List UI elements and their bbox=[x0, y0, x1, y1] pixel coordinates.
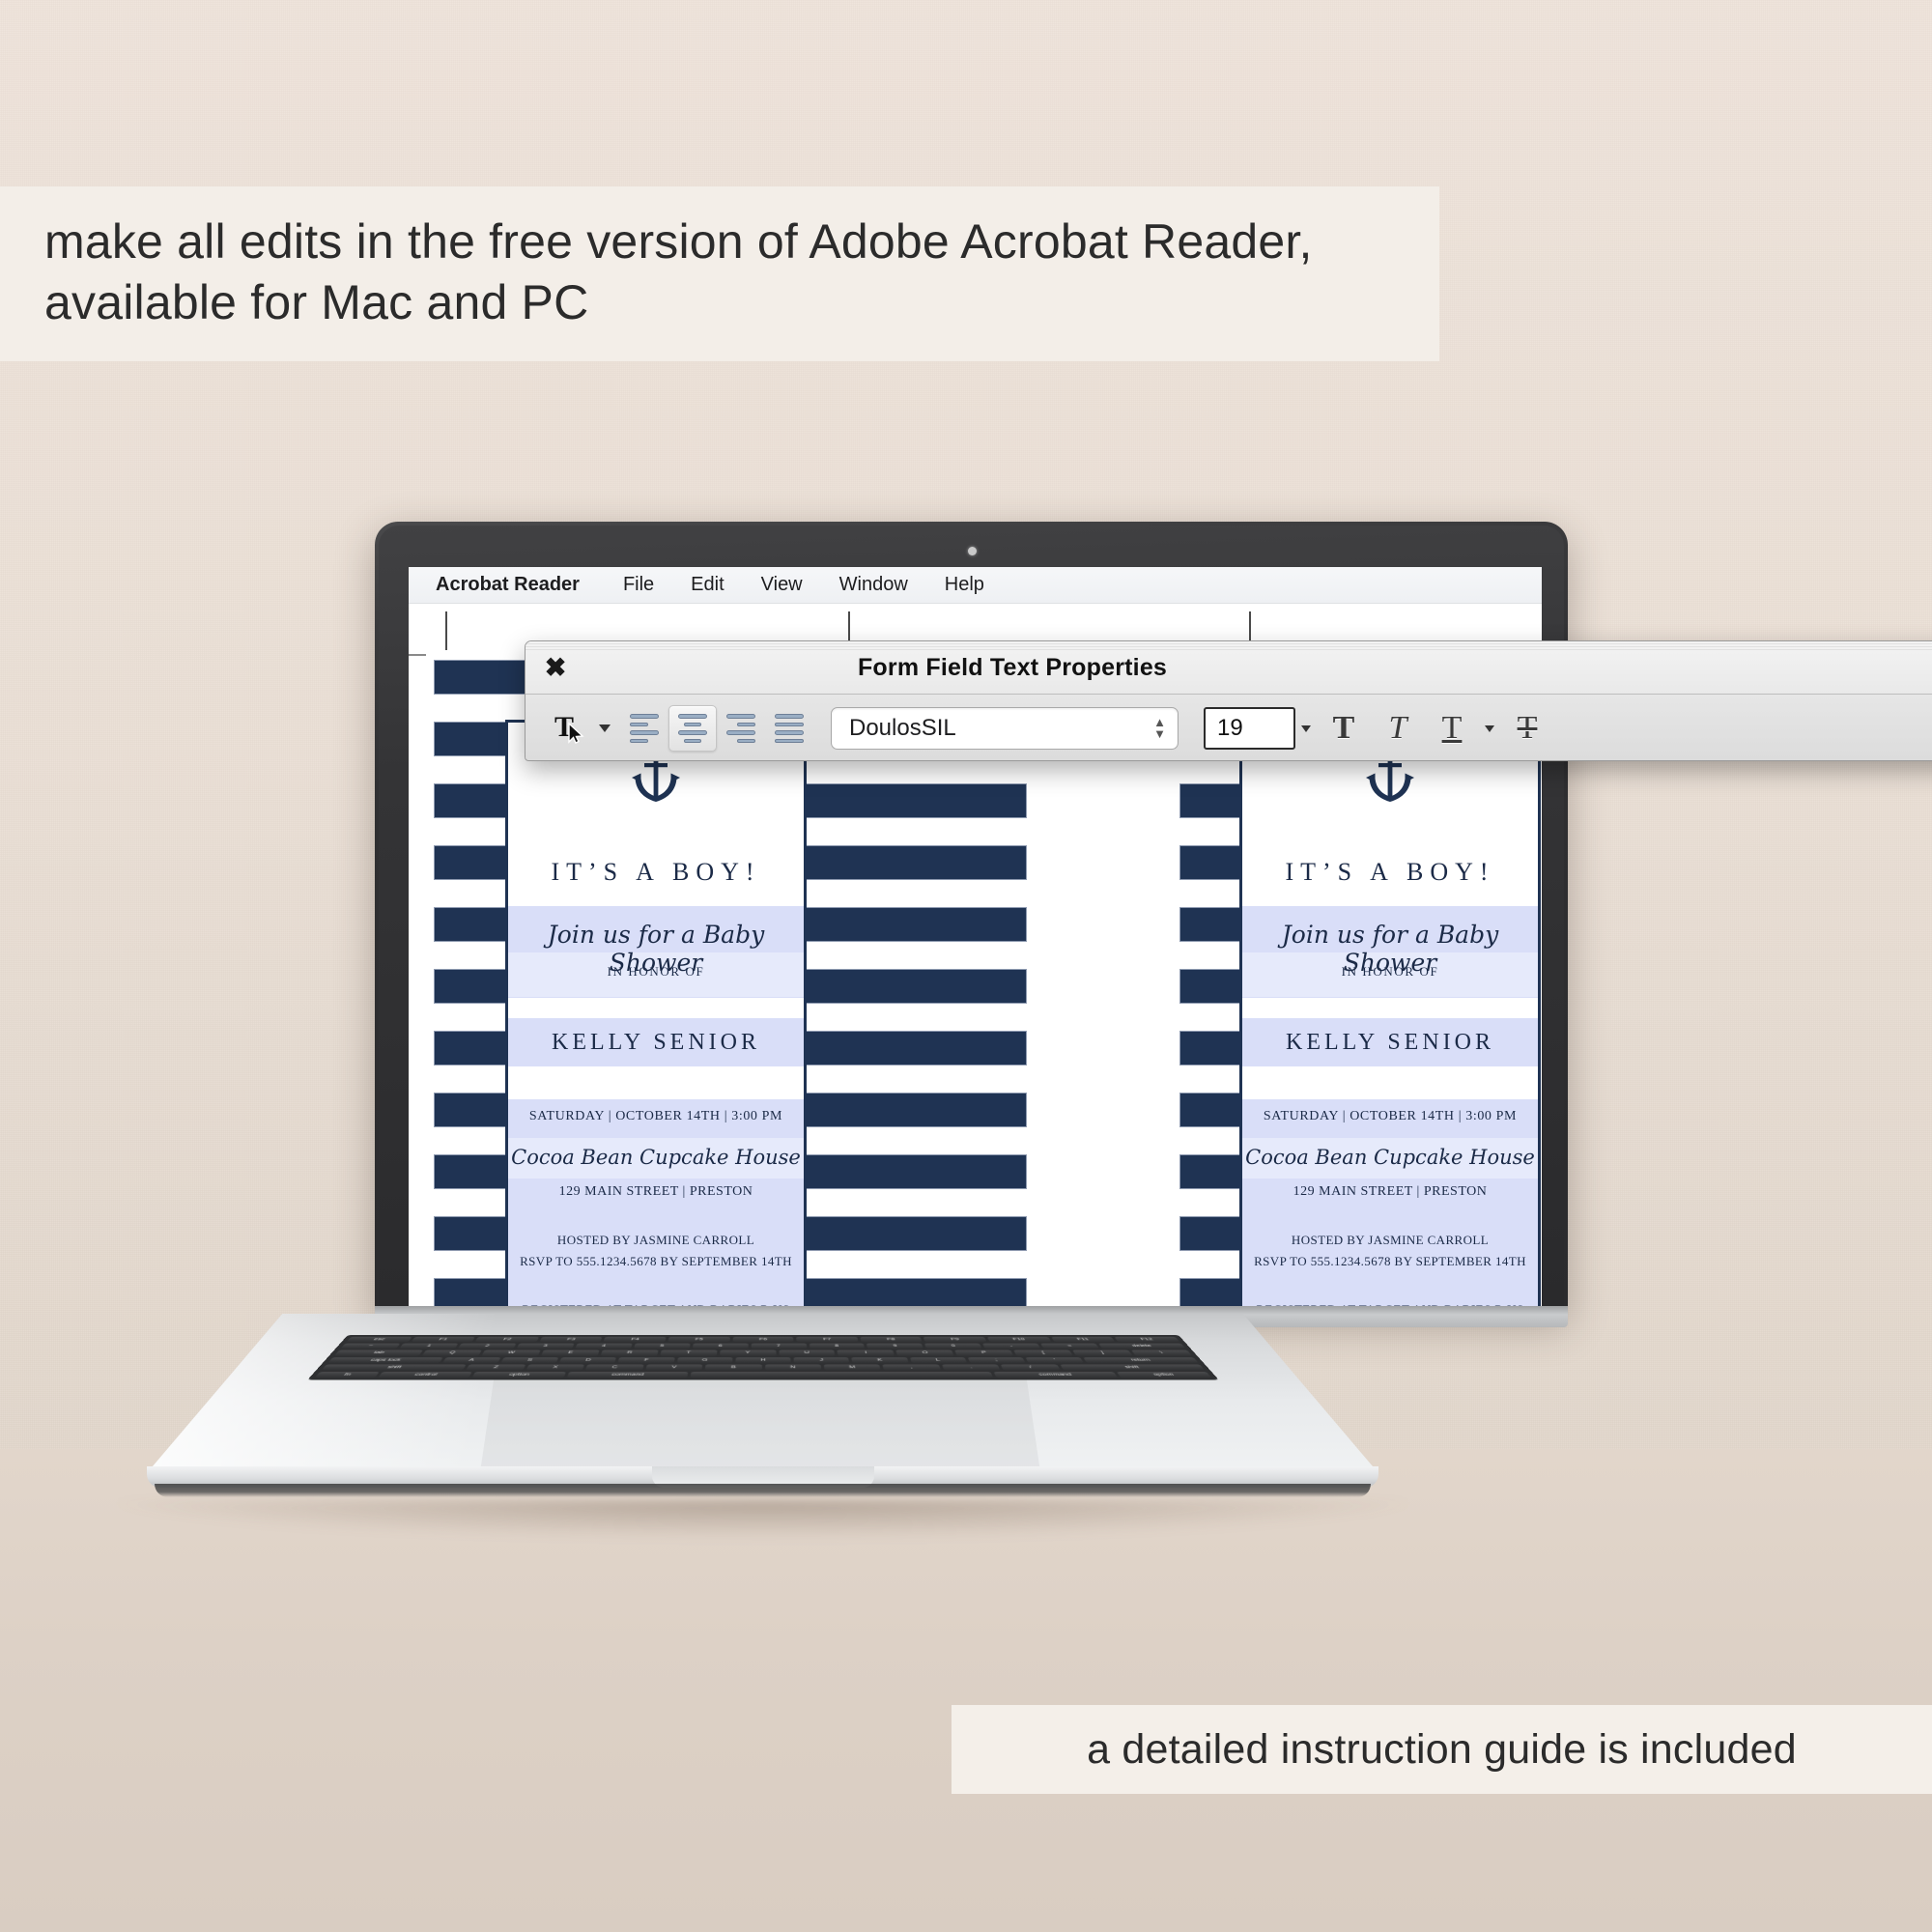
key[interactable]: X bbox=[526, 1364, 584, 1370]
key[interactable]: ; bbox=[968, 1357, 1026, 1363]
invitation-card-left[interactable]: IT’S A BOY! Join us for a Baby Shower IN… bbox=[505, 720, 807, 1311]
key[interactable]: F7 bbox=[796, 1337, 858, 1342]
bottom-caption: a detailed instruction guide is included bbox=[952, 1705, 1932, 1794]
key-shift-left[interactable]: shift bbox=[322, 1364, 467, 1370]
card-band-3 bbox=[1242, 1099, 1538, 1311]
key[interactable]: F5 bbox=[668, 1337, 730, 1342]
key-space[interactable] bbox=[691, 1372, 993, 1378]
card-honoree: KELLY SENIOR bbox=[508, 1030, 804, 1056]
text-properties-icon[interactable]: T bbox=[547, 705, 595, 752]
key-control[interactable]: control bbox=[379, 1372, 473, 1378]
stripe bbox=[781, 1031, 1027, 1065]
keyboard-row-qwerty[interactable]: tab Q W E R T Y U I O P [ ] \ bbox=[334, 1350, 1192, 1356]
key[interactable]: = bbox=[1040, 1344, 1099, 1349]
card-venue: Cocoa Bean Cupcake House bbox=[1242, 1146, 1538, 1169]
key[interactable]: Y bbox=[720, 1350, 776, 1356]
key[interactable]: U bbox=[779, 1350, 836, 1356]
key[interactable]: 8 bbox=[809, 1344, 865, 1349]
key[interactable]: F6 bbox=[732, 1337, 794, 1342]
key[interactable]: 4 bbox=[575, 1344, 632, 1349]
bold-button[interactable]: T bbox=[1317, 705, 1371, 752]
stripe bbox=[781, 1216, 1027, 1251]
card-rsvp: RSVP TO 555.1234.5678 BY SEPTEMBER 14TH bbox=[1242, 1254, 1538, 1269]
key[interactable]: \ bbox=[1131, 1350, 1192, 1356]
align-justify-button[interactable] bbox=[765, 705, 813, 752]
key[interactable]: 2 bbox=[458, 1344, 516, 1349]
laptop-mockup: Acrobat Reader File Edit View Window Hel… bbox=[0, 0, 1932, 1932]
strikethrough-button[interactable]: T bbox=[1500, 705, 1554, 752]
key[interactable]: E bbox=[541, 1350, 599, 1356]
font-size-chevron-down-icon[interactable] bbox=[1301, 725, 1311, 732]
font-family-select[interactable]: DoulosSIL ▲▼ bbox=[831, 707, 1179, 750]
keyboard-row-function[interactable]: esc F1 F2 F3 F4 F5 F6 F7 F8 F9 F10 F11 F… bbox=[347, 1337, 1180, 1342]
key-shift-right[interactable]: shift bbox=[1060, 1364, 1205, 1370]
key[interactable]: - bbox=[982, 1344, 1040, 1349]
align-center-icon bbox=[678, 714, 707, 743]
key[interactable]: K bbox=[852, 1357, 909, 1363]
key[interactable]: 3 bbox=[516, 1344, 574, 1349]
underline-button[interactable]: T bbox=[1425, 705, 1479, 752]
key[interactable]: ' bbox=[1026, 1357, 1085, 1363]
key-return[interactable]: return bbox=[1084, 1357, 1199, 1363]
stripe bbox=[781, 845, 1027, 880]
key[interactable]: 5 bbox=[634, 1344, 690, 1349]
stripe bbox=[781, 907, 1027, 942]
card-headline: IT’S A BOY! bbox=[1242, 858, 1538, 887]
invitation-card-right[interactable]: IT’S A BOY! Join us for a Baby Shower IN… bbox=[1239, 720, 1541, 1311]
form-field-text-properties-toolbar[interactable]: ✖ Form Field Text Properties T DoulosSIL bbox=[525, 640, 1932, 761]
keyboard-row-number[interactable]: ~ 1 2 3 4 5 6 7 8 9 0 - = delete bbox=[340, 1344, 1185, 1349]
key[interactable]: F4 bbox=[604, 1337, 667, 1342]
key[interactable]: F1 bbox=[411, 1337, 475, 1342]
key[interactable]: F bbox=[618, 1357, 675, 1363]
key[interactable]: F2 bbox=[475, 1337, 539, 1342]
key[interactable]: C bbox=[585, 1364, 643, 1370]
chevron-down-icon[interactable] bbox=[599, 724, 611, 732]
card-in-honor-of: IN HONOR OF bbox=[1242, 964, 1538, 980]
toolbar-drag-grip[interactable] bbox=[526, 643, 1932, 652]
font-size-input[interactable]: 19 bbox=[1204, 707, 1295, 750]
card-host: HOSTED BY JASMINE CARROLL bbox=[1242, 1233, 1538, 1248]
key[interactable]: F11 bbox=[1051, 1337, 1116, 1342]
key[interactable]: M bbox=[824, 1364, 881, 1370]
keyboard-row-home[interactable]: caps lock A S D F G H J K L ; ' return bbox=[328, 1357, 1199, 1363]
menu-item-file[interactable]: File bbox=[605, 574, 672, 596]
card-when: SATURDAY | OCTOBER 14TH | 3:00 PM bbox=[508, 1109, 804, 1124]
toolbar-title: Form Field Text Properties bbox=[526, 654, 1932, 682]
card-headline: IT’S A BOY! bbox=[508, 858, 804, 887]
card-address: 129 MAIN STREET | PRESTON bbox=[508, 1184, 804, 1200]
key[interactable]: L bbox=[910, 1357, 967, 1363]
menu-item-help[interactable]: Help bbox=[926, 574, 1003, 596]
font-size-value: 19 bbox=[1217, 715, 1243, 742]
key[interactable]: [ bbox=[1013, 1350, 1072, 1356]
key[interactable]: F12 bbox=[1115, 1337, 1180, 1342]
keyboard-row-shift[interactable]: shift Z X C V B N M , . / shift bbox=[322, 1364, 1205, 1370]
key[interactable]: , bbox=[883, 1364, 941, 1370]
key[interactable]: F10 bbox=[987, 1337, 1051, 1342]
card-when: SATURDAY | OCTOBER 14TH | 3:00 PM bbox=[1242, 1109, 1538, 1124]
key[interactable]: I bbox=[838, 1350, 895, 1356]
key[interactable]: F8 bbox=[860, 1337, 923, 1342]
card-rsvp: RSVP TO 555.1234.5678 BY SEPTEMBER 14TH bbox=[508, 1254, 804, 1269]
key-caps-lock[interactable]: caps lock bbox=[328, 1357, 443, 1363]
key[interactable]: Q bbox=[422, 1350, 482, 1356]
stripe bbox=[781, 1093, 1027, 1127]
align-center-button[interactable] bbox=[668, 705, 717, 752]
keyboard[interactable]: esc F1 F2 F3 F4 F5 F6 F7 F8 F9 F10 F11 F… bbox=[307, 1335, 1218, 1379]
key[interactable]: P bbox=[955, 1350, 1014, 1356]
key[interactable]: S bbox=[500, 1357, 558, 1363]
card-honoree: KELLY SENIOR bbox=[1242, 1030, 1538, 1056]
stripe bbox=[781, 1154, 1027, 1189]
key[interactable]: W bbox=[481, 1350, 540, 1356]
card-band-3 bbox=[508, 1099, 804, 1311]
key[interactable]: F3 bbox=[539, 1337, 602, 1342]
font-family-value: DoulosSIL bbox=[849, 715, 956, 742]
laptop-base-underside bbox=[155, 1484, 1371, 1497]
key[interactable]: 1 bbox=[399, 1344, 458, 1349]
key[interactable]: R bbox=[601, 1350, 659, 1356]
menu-item-view[interactable]: View bbox=[743, 574, 821, 596]
stepper-icon[interactable]: ▲▼ bbox=[1153, 718, 1166, 740]
align-justify-icon bbox=[775, 714, 804, 743]
key[interactable]: Z bbox=[466, 1364, 526, 1370]
key[interactable]: O bbox=[896, 1350, 954, 1356]
key[interactable]: J bbox=[794, 1357, 850, 1363]
key[interactable]: F9 bbox=[923, 1337, 986, 1342]
webcam-icon bbox=[968, 547, 977, 555]
stripe bbox=[781, 969, 1027, 1004]
underline-chevron-down-icon[interactable] bbox=[1485, 725, 1494, 732]
toolbar-controls[interactable]: T DoulosSIL ▲▼ 19 T bbox=[526, 695, 1932, 761]
key-tab[interactable]: tab bbox=[334, 1350, 423, 1356]
key[interactable]: ~ bbox=[340, 1344, 400, 1349]
key[interactable]: ] bbox=[1072, 1350, 1132, 1356]
toolbar-title-bar[interactable]: ✖ Form Field Text Properties bbox=[526, 641, 1932, 695]
key[interactable]: . bbox=[942, 1364, 1001, 1370]
key[interactable]: A bbox=[442, 1357, 501, 1363]
key[interactable]: 9 bbox=[867, 1344, 923, 1349]
card-host: HOSTED BY JASMINE CARROLL bbox=[508, 1233, 804, 1248]
card-in-honor-of: IN HONOR OF bbox=[508, 964, 804, 980]
key[interactable]: T bbox=[660, 1350, 717, 1356]
stripe bbox=[781, 783, 1027, 818]
key-command-right[interactable]: command bbox=[994, 1372, 1118, 1378]
menu-item-window[interactable]: Window bbox=[821, 574, 926, 596]
key[interactable]: N bbox=[765, 1364, 822, 1370]
menu-item-acrobat-reader[interactable]: Acrobat Reader bbox=[436, 574, 605, 596]
page-guide-vertical-1 bbox=[445, 611, 447, 650]
key[interactable]: 6 bbox=[693, 1344, 749, 1349]
key[interactable]: / bbox=[1001, 1364, 1061, 1370]
key-option-right[interactable]: option bbox=[1117, 1372, 1211, 1378]
align-left-button[interactable] bbox=[620, 705, 668, 752]
key[interactable]: 0 bbox=[924, 1344, 981, 1349]
key-fn[interactable]: fn bbox=[315, 1372, 380, 1378]
app-menu-bar[interactable]: Acrobat Reader File Edit View Window Hel… bbox=[409, 567, 1542, 604]
key-option-left[interactable]: option bbox=[472, 1372, 565, 1378]
key[interactable]: H bbox=[735, 1357, 791, 1363]
card-venue: Cocoa Bean Cupcake House bbox=[508, 1146, 804, 1169]
key-command-left[interactable]: command bbox=[566, 1372, 688, 1378]
italic-button[interactable]: T bbox=[1371, 705, 1425, 752]
key[interactable]: esc bbox=[347, 1337, 412, 1342]
align-left-icon bbox=[630, 714, 659, 743]
card-address: 129 MAIN STREET | PRESTON bbox=[1242, 1184, 1538, 1200]
key[interactable]: D bbox=[559, 1357, 616, 1363]
menu-item-edit[interactable]: Edit bbox=[672, 574, 742, 596]
key[interactable]: G bbox=[677, 1357, 733, 1363]
key[interactable]: B bbox=[705, 1364, 762, 1370]
key[interactable]: V bbox=[645, 1364, 702, 1370]
keyboard-row-space[interactable]: fn control option command command option bbox=[315, 1372, 1211, 1378]
align-right-button[interactable] bbox=[717, 705, 765, 752]
key[interactable]: 7 bbox=[751, 1344, 807, 1349]
key-delete[interactable]: delete bbox=[1098, 1344, 1185, 1349]
align-right-icon bbox=[726, 714, 755, 743]
